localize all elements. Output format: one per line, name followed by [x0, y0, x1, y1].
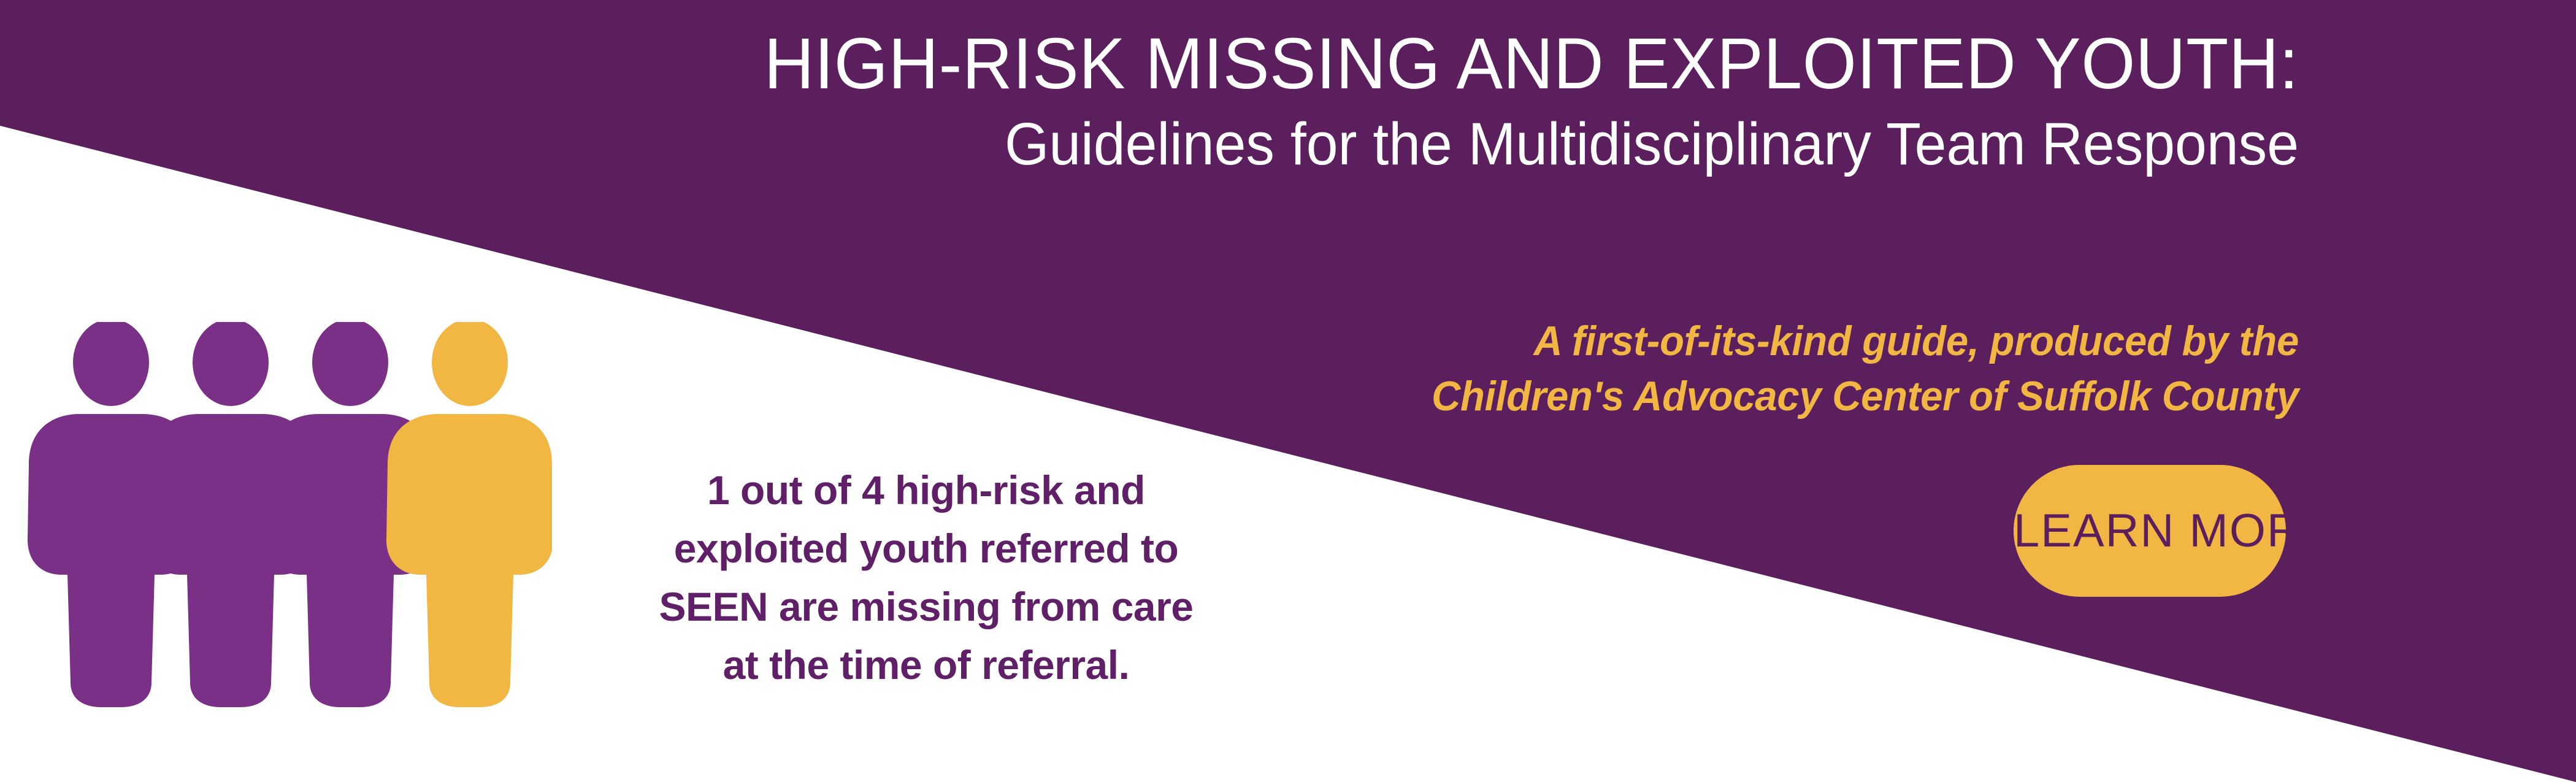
- learn-more-button[interactable]: LEARN MORE: [2014, 465, 2286, 597]
- banner-title: HIGH-RISK MISSING AND EXPLOITED YOUTH:: [473, 27, 2299, 101]
- statistic-line-2: exploited youth referred to: [589, 519, 1263, 578]
- credit-line-1: A first-of-its-kind guide, produced by t…: [886, 314, 2299, 369]
- banner-subtitle: Guidelines for the Multidisciplinary Tea…: [473, 109, 2299, 179]
- headline-block: HIGH-RISK MISSING AND EXPLOITED YOUTH: G…: [397, 27, 2299, 180]
- person-figure-4-highlighted: [386, 322, 552, 707]
- promo-banner: HIGH-RISK MISSING AND EXPLOITED YOUTH: G…: [0, 0, 2576, 782]
- statistic-text-block: 1 out of 4 high-risk and exploited youth…: [589, 461, 1263, 694]
- credit-block: A first-of-its-kind guide, produced by t…: [827, 314, 2299, 424]
- statistic-line-4: at the time of referral.: [589, 636, 1263, 694]
- four-people-one-highlighted-icon: [25, 322, 552, 711]
- credit-line-2: Children's Advocacy Center of Suffolk Co…: [886, 369, 2299, 424]
- statistic-line-1: 1 out of 4 high-risk and: [589, 461, 1263, 519]
- statistic-line-3: SEEN are missing from care: [589, 578, 1263, 636]
